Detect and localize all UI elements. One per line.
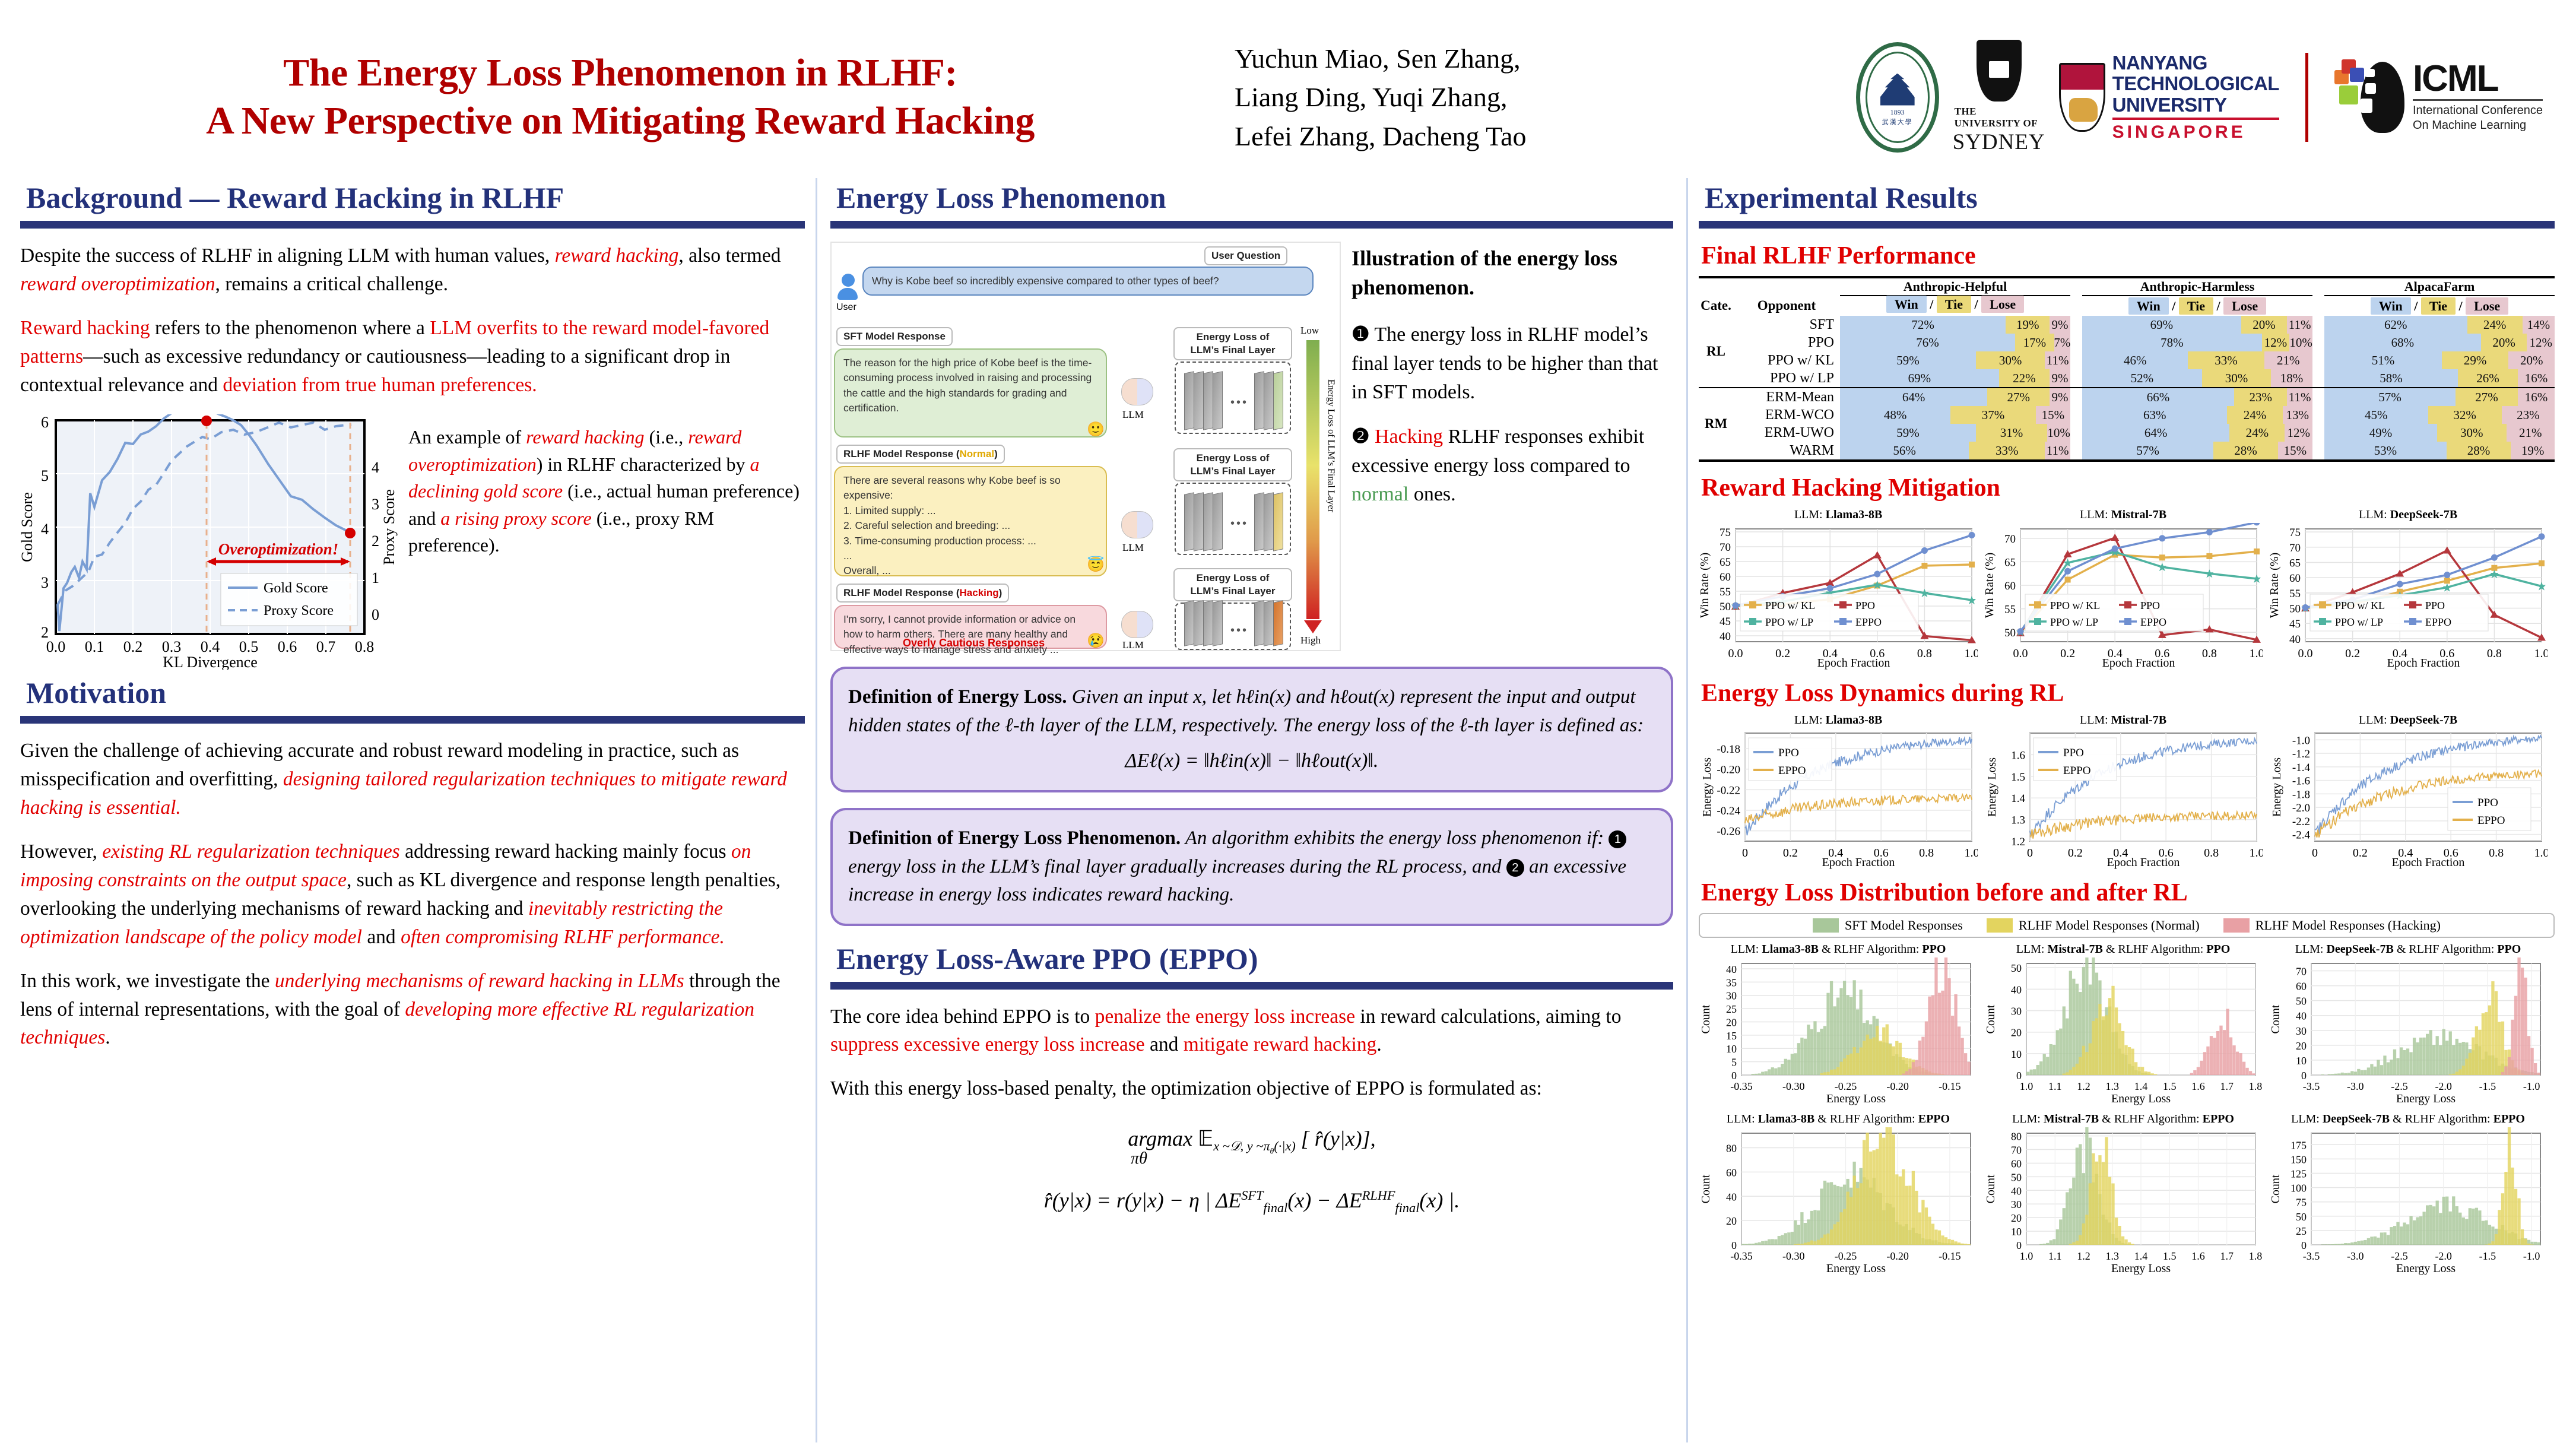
svg-text:1.0: 1.0 — [2534, 846, 2548, 860]
svg-text:0.8: 0.8 — [1919, 846, 1934, 860]
win-segment: 56% — [1840, 442, 1969, 459]
table-row: RMERM-Mean 64% 27% 9% 66% 23% 11% 57% 27… — [1699, 388, 2555, 406]
section-rule — [20, 221, 805, 229]
table-row-bar: 62% 24% 14% — [2324, 316, 2555, 334]
table-row-bar: 52% 30% 18% — [2082, 369, 2312, 388]
svg-text:1.6: 1.6 — [2191, 1080, 2205, 1092]
lose-segment: 9% — [2050, 388, 2070, 406]
svg-text:Energy Loss: Energy Loss — [2396, 1262, 2456, 1275]
svg-text:Count: Count — [1984, 1004, 1997, 1033]
dataset-header-1: Anthropic-Harmless — [2082, 277, 2312, 296]
svg-text:50: 50 — [1720, 601, 1731, 613]
svg-text:-0.24: -0.24 — [1717, 805, 1740, 817]
chart-title: LLM: Mistral-7B & RLHF Algorithm: PPO — [1984, 943, 2263, 956]
mitigation-chart-1: LLM: Mistral-7B50556065700.00.20.40.60.8… — [1984, 508, 2263, 673]
icml-mark-icon — [2334, 59, 2404, 135]
win-segment: 69% — [1840, 369, 1999, 387]
svg-text:0.2: 0.2 — [1783, 846, 1798, 860]
svg-text:-3.0: -3.0 — [2347, 1250, 2364, 1262]
svg-text:0: 0 — [1731, 1239, 1737, 1251]
eppo-objective-formula: argmax 𝔼x ~𝒟, y ~πθ(·|x) [ r̂(y|x)], πθ … — [830, 1118, 1673, 1221]
mo-p3-e: . — [105, 1026, 110, 1048]
svg-text:1.3: 1.3 — [2106, 1250, 2120, 1262]
background-paragraph-2: Reward hacking refers to the phenomenon … — [20, 314, 805, 399]
histogram-row-eppo: LLM: Llama3-8B & RLHF Algorithm: EPPO020… — [1699, 1112, 2555, 1279]
svg-text:Win Rate (%): Win Rate (%) — [1984, 553, 1996, 618]
overoptimization-figure-caption: An example of reward hacking (i.e., rewa… — [408, 414, 800, 559]
tie-segment: 27% — [1987, 388, 2050, 406]
svg-text:75: 75 — [2296, 1197, 2307, 1209]
column-background: Background — Reward Hacking in RLHF Desp… — [9, 178, 816, 1442]
lose-segment: 23% — [2502, 406, 2555, 424]
table-row-bar: 63% 24% 13% — [2082, 406, 2312, 424]
tie-segment: 24% — [2467, 316, 2523, 334]
brain-icon-sft — [1121, 378, 1153, 405]
svg-text:30: 30 — [2296, 1025, 2307, 1037]
legend-item-0: SFT Model Responses — [1813, 918, 1963, 933]
svg-text:1.4: 1.4 — [2134, 1250, 2148, 1262]
chart-title: LLM: DeepSeek-7B — [2269, 508, 2548, 522]
sft-response-bubble: The reason for the high price of Kobe be… — [834, 348, 1107, 437]
chart-title: LLM: Mistral-7B — [1984, 714, 2263, 727]
def1-formula: ΔEℓ(x) = ‖hℓin(x)‖ − ‖hℓout(x)‖. — [848, 747, 1655, 776]
svg-text:10: 10 — [2011, 1226, 2022, 1238]
table-row: WARM 56% 33% 11% 57% 28% 15% 53% 28% — [1699, 442, 2555, 461]
legend-label: RLHF Model Responses (Hacking) — [2255, 918, 2441, 933]
bg-p1-b: reward hacking — [555, 245, 679, 267]
tie-segment: 19% — [2006, 316, 2050, 334]
svg-text:0.4: 0.4 — [201, 638, 220, 655]
metric-lose-1: Lose — [2223, 297, 2266, 315]
mo-p2-c: addressing reward hacking mainly focus — [400, 841, 731, 863]
svg-text:4: 4 — [372, 459, 379, 476]
opponent-label: ERM-WCO — [1733, 406, 1840, 424]
eppo-paragraph-2: With this energy loss-based penalty, the… — [830, 1074, 1673, 1103]
svg-text:EPPO: EPPO — [2477, 814, 2505, 827]
svg-text:40: 40 — [1720, 630, 1731, 643]
tie-segment: 23% — [2234, 388, 2287, 406]
win-segment: 64% — [1840, 388, 1987, 406]
svg-text:1.8: 1.8 — [2249, 1080, 2263, 1092]
svg-text:Epoch Fraction: Epoch Fraction — [2107, 856, 2180, 869]
tie-segment: 30% — [1976, 351, 2045, 369]
eppo-formula-line-2: r̂(y|x) = r(y|x) − η | ΔESFTfinal(x) − Δ… — [830, 1180, 1673, 1221]
cap-e: ) in RLHF characterized by — [537, 454, 750, 475]
table-row-bar: 76% 17% 7% — [1840, 334, 2070, 351]
dynamics-chart-1: LLM: Mistral-7B1.21.31.41.51.600.20.40.6… — [1984, 714, 2263, 873]
svg-text:PPO w/ KL: PPO w/ KL — [2335, 600, 2385, 611]
svg-text:PPO w/ LP: PPO w/ LP — [1765, 616, 1813, 628]
metric-win-1: Win — [2128, 297, 2169, 315]
svg-text:150: 150 — [2291, 1153, 2307, 1165]
svg-text:PPO: PPO — [2425, 600, 2445, 611]
lose-segment: 11% — [2045, 442, 2070, 459]
svg-text:0: 0 — [1731, 1070, 1737, 1082]
tie-segment: 37% — [1950, 406, 2036, 424]
motivation-paragraph-2: However, existing RL regularization tech… — [20, 838, 805, 952]
svg-text:-1.8: -1.8 — [2292, 788, 2310, 801]
def1-title: Definition of Energy Loss. — [848, 686, 1067, 708]
svg-text:55: 55 — [2289, 588, 2301, 600]
tie-segment: 29% — [2442, 351, 2509, 369]
tie-segment: 33% — [2188, 351, 2264, 369]
svg-text:1.4: 1.4 — [2134, 1080, 2148, 1092]
svg-text:-0.30: -0.30 — [1782, 1080, 1805, 1092]
bg-p2-e: deviation from true human preferences. — [223, 374, 537, 396]
table-row-bar: 78% 12% 10% — [2082, 334, 2312, 351]
svg-text:Overoptimization!: Overoptimization! — [218, 540, 339, 558]
table-row-bar: 59% 30% 11% — [1840, 351, 2070, 369]
svg-text:70: 70 — [2296, 966, 2307, 978]
svg-text:-0.22: -0.22 — [1717, 784, 1740, 797]
svg-text:1.0: 1.0 — [2250, 846, 2263, 860]
svg-text:1.0: 1.0 — [1965, 647, 1978, 660]
svg-text:20: 20 — [2011, 1212, 2022, 1224]
svg-text:1.6: 1.6 — [2011, 749, 2025, 762]
svg-text:65: 65 — [2004, 556, 2016, 569]
svg-text:2: 2 — [372, 532, 379, 550]
svg-text:-2.0: -2.0 — [2292, 802, 2310, 814]
smiley-icon: 🙂 — [1087, 421, 1105, 438]
svg-text:70: 70 — [2289, 542, 2301, 554]
table-bottom-rule — [1699, 461, 2555, 463]
table-row: PPO w/ LP 69% 22% 9% 52% 30% 18% 58% 26% — [1699, 369, 2555, 388]
svg-text:15: 15 — [1726, 1030, 1737, 1042]
section-title-motivation: Motivation — [26, 676, 805, 710]
svg-text:40: 40 — [2011, 984, 2022, 995]
table-row: RLSFT 72% 19% 9% 69% 20% 11% 62% 24% — [1699, 316, 2555, 334]
win-segment: 63% — [2082, 406, 2227, 424]
section-title-background: Background — Reward Hacking in RLHF — [26, 180, 805, 215]
legend-label: RLHF Model Responses (Normal) — [2019, 918, 2200, 933]
svg-text:40: 40 — [2289, 633, 2301, 646]
lose-segment: 11% — [2287, 388, 2312, 406]
sydney-university-logo: THE UNIVERSITY OF SYDNEY — [1955, 40, 2044, 155]
table-row-bar: 57% 27% 16% — [2324, 388, 2555, 406]
svg-text:0.8: 0.8 — [2204, 846, 2219, 860]
subsection-reward-hacking-mitigation: Reward Hacking Mitigation — [1701, 474, 2555, 502]
lose-segment: 11% — [2287, 316, 2312, 334]
final-rlhf-performance-table: Anthropic-Helpful Anthropic-Harmless Alp… — [1699, 276, 2555, 463]
author-line-2: Liang Ding, Yuqi Zhang, — [1235, 78, 1573, 116]
svg-text:60: 60 — [2004, 580, 2016, 592]
svg-text:1.3: 1.3 — [2011, 814, 2025, 827]
table-row-bar: 69% 20% 11% — [2082, 316, 2312, 334]
svg-text:40: 40 — [1726, 963, 1737, 975]
legend-item-2: RLHF Model Responses (Hacking) — [2223, 918, 2441, 933]
svg-text:0.0: 0.0 — [46, 638, 66, 655]
svg-text:-0.20: -0.20 — [1886, 1250, 1909, 1262]
lose-segment: 18% — [2271, 369, 2312, 387]
point-1-badge: ❶ — [1352, 324, 1369, 345]
illustration-point-2: ❷ Hacking RLHF responses exhibit excessi… — [1352, 423, 1672, 509]
svg-text:1.0: 1.0 — [2020, 1250, 2033, 1262]
energy-box-title-sft: Energy Loss ofLLM’s Final Layer — [1173, 327, 1292, 360]
svg-text:-1.5: -1.5 — [2479, 1250, 2496, 1262]
svg-text:0.5: 0.5 — [239, 638, 259, 655]
svg-text:1.5: 1.5 — [2011, 771, 2025, 784]
svg-text:1.7: 1.7 — [2220, 1250, 2234, 1262]
energy-scale-bar — [1306, 340, 1319, 619]
illustration-point-1: ❶ The energy loss in RLHF model’s final … — [1352, 321, 1672, 407]
svg-text:EPPO: EPPO — [2063, 765, 2090, 777]
histogram-legend: SFT Model ResponsesRLHF Model Responses … — [1699, 913, 2555, 938]
svg-text:0: 0 — [2016, 1239, 2022, 1251]
table-row-bar: 68% 20% 12% — [2324, 334, 2555, 351]
performance-table-body: RLSFT 72% 19% 9% 69% 20% 11% 62% 24% — [1699, 316, 2555, 463]
win-segment: 62% — [2324, 316, 2467, 334]
title-line-2: A New Perspective on Mitigating Reward H… — [24, 97, 1217, 145]
svg-text:0: 0 — [1742, 846, 1748, 860]
svg-text:50: 50 — [2296, 995, 2307, 1007]
tie-segment: 17% — [2015, 334, 2054, 351]
svg-text:EPPO: EPPO — [1855, 616, 1882, 628]
llm-label-sft: LLM — [1122, 409, 1144, 421]
svg-text:0.0: 0.0 — [2013, 647, 2028, 660]
svg-text:0: 0 — [2016, 1070, 2022, 1082]
tie-segment: 24% — [2227, 406, 2282, 424]
scale-high-label: High — [1300, 635, 1321, 646]
subsection-final-rlhf-performance: Final RLHF Performance — [1701, 242, 2555, 270]
svg-text:-0.20: -0.20 — [1717, 764, 1740, 776]
def2-badge-2: 2 — [1506, 859, 1524, 877]
def2-title: Definition of Energy Loss Phenomenon. — [848, 827, 1181, 849]
svg-text:-0.20: -0.20 — [1886, 1080, 1909, 1092]
svg-text:-3.5: -3.5 — [2303, 1080, 2320, 1092]
svg-text:-1.0: -1.0 — [2523, 1250, 2540, 1262]
eppo-formula-subscript: πθ — [605, 1143, 1673, 1174]
energy-box-title-normal: Energy Loss ofLLM’s Final Layer — [1173, 448, 1292, 481]
section-title-energy-loss: Energy Loss Phenomenon — [836, 180, 1673, 215]
svg-text:-0.15: -0.15 — [1939, 1080, 1961, 1092]
svg-text:Energy Loss: Energy Loss — [1985, 757, 1998, 817]
angel-icon: 😇 — [1087, 556, 1105, 573]
win-segment: 51% — [2324, 351, 2442, 369]
svg-text:Energy Loss: Energy Loss — [2111, 1262, 2171, 1275]
legend-swatch — [1813, 918, 1839, 933]
svg-text:60: 60 — [2296, 981, 2307, 993]
svg-text:Count: Count — [1699, 1174, 1712, 1203]
section-title-results: Experimental Results — [1705, 180, 2555, 215]
lose-segment: 20% — [2508, 351, 2555, 369]
ntu-logo: NANYANG TECHNOLOGICAL UNIVERSITY SINGAPO… — [2059, 52, 2279, 142]
opponent-label: PPO — [1733, 334, 1840, 351]
svg-text:PPO w/ KL: PPO w/ KL — [2050, 600, 2100, 611]
cap-b: reward hacking — [526, 426, 644, 448]
lose-segment: 16% — [2518, 388, 2555, 406]
svg-text:3: 3 — [41, 574, 49, 591]
bg-p2-b: refers to the phenomenon where a — [150, 317, 430, 339]
svg-text:75: 75 — [1720, 527, 1731, 539]
table-row-bar: 57% 28% 15% — [2082, 442, 2312, 461]
win-segment: 46% — [2082, 351, 2188, 369]
svg-text:-1.6: -1.6 — [2292, 775, 2310, 788]
category-label: RM — [1699, 388, 1733, 461]
histogram-panel-1: LLM: Mistral-7B & RLHF Algorithm: PPO010… — [1984, 943, 2263, 1109]
section-title-eppo: Energy Loss-Aware PPO (EPPO) — [836, 941, 1673, 976]
overoptimization-chart: Overoptimization! Gold Score Proxy Score… — [20, 414, 400, 670]
bg-p1-d: reward overoptimization — [20, 273, 215, 295]
svg-text:-1.5: -1.5 — [2479, 1080, 2496, 1092]
svg-text:100: 100 — [2291, 1182, 2307, 1194]
legend-label: SFT Model Responses — [1845, 918, 1963, 933]
svg-text:PPO: PPO — [2477, 797, 2498, 809]
rlhf-hacking-tag: RLHF Model Response (Hacking) — [836, 584, 1009, 603]
win-segment: 48% — [1840, 406, 1950, 424]
bg-p1-c: , also termed — [678, 245, 781, 267]
definition-energy-loss-box: Definition of Energy Loss. Given an inpu… — [830, 667, 1673, 792]
svg-text:70: 70 — [2011, 1144, 2022, 1156]
chart-title: LLM: Llama3-8B & RLHF Algorithm: PPO — [1699, 943, 1978, 956]
def2-badge-1: 1 — [1609, 830, 1626, 848]
svg-text:175: 175 — [2291, 1139, 2307, 1151]
svg-text:55: 55 — [1720, 586, 1731, 598]
subsection-energy-distribution: Energy Loss Distribution before and afte… — [1701, 879, 2555, 907]
chart-title: LLM: Mistral-7B — [1984, 508, 2263, 522]
svg-text:0.2: 0.2 — [1775, 647, 1790, 660]
svg-text:Epoch Fraction: Epoch Fraction — [2102, 657, 2175, 670]
lose-segment: 9% — [2050, 316, 2070, 334]
tie-segment: 12% — [2262, 334, 2290, 351]
svg-text:-3.0: -3.0 — [2347, 1080, 2364, 1092]
histogram-panel-3: LLM: Llama3-8B & RLHF Algorithm: EPPO020… — [1699, 1112, 1978, 1279]
svg-text:75: 75 — [2289, 527, 2301, 539]
tie-segment: 20% — [2481, 334, 2527, 351]
svg-text:-1.0: -1.0 — [2523, 1080, 2540, 1092]
win-segment: 76% — [1840, 334, 2015, 351]
svg-text:-2.5: -2.5 — [2391, 1250, 2408, 1262]
poster-title: The Energy Loss Phenomenon in RLHF: A Ne… — [24, 49, 1217, 145]
point-2-normal: normal — [1352, 483, 1408, 505]
svg-text:50: 50 — [2004, 627, 2016, 639]
svg-text:30: 30 — [1726, 990, 1737, 1002]
svg-text:1.3: 1.3 — [2106, 1080, 2120, 1092]
eppo-paragraph-1: The core idea behind EPPO is to penalize… — [830, 1003, 1673, 1060]
svg-text:Energy Loss: Energy Loss — [1826, 1092, 1886, 1105]
svg-text:0.6: 0.6 — [278, 638, 297, 655]
svg-text:0.0: 0.0 — [2298, 647, 2313, 660]
svg-text:0.8: 0.8 — [2489, 846, 2504, 860]
win-segment: 57% — [2082, 442, 2213, 459]
svg-text:0.2: 0.2 — [2068, 846, 2083, 860]
table-row-bar: 69% 22% 9% — [1840, 369, 2070, 388]
mo-p2-h: often compromising RLHF performance. — [401, 926, 725, 948]
lose-segment: 7% — [2054, 334, 2070, 351]
chart-title: LLM: DeepSeek-7B — [2269, 714, 2548, 727]
svg-text:0: 0 — [2301, 1239, 2307, 1251]
svg-text:KL Divergence: KL Divergence — [163, 654, 258, 670]
svg-text:50: 50 — [2011, 962, 2022, 974]
svg-text:Gold Score: Gold Score — [264, 581, 328, 596]
table-row-bar: 48% 37% 15% — [1840, 406, 2070, 424]
svg-text:0.8: 0.8 — [2487, 647, 2502, 660]
table-row-bar: 49% 30% 21% — [2324, 424, 2555, 442]
mo-p2-b: existing RL regularization techniques — [102, 841, 400, 863]
table-row: PPO 76% 17% 7% 78% 12% 10% 68% 20% 12 — [1699, 334, 2555, 351]
svg-text:20: 20 — [2011, 1027, 2022, 1039]
svg-text:-0.15: -0.15 — [1939, 1250, 1961, 1262]
svg-text:1.0: 1.0 — [2020, 1080, 2033, 1092]
tie-segment: 30% — [2202, 369, 2271, 387]
lose-segment: 9% — [2050, 369, 2070, 387]
opponent-label: PPO w/ LP — [1733, 369, 1840, 388]
metric-tie-1: Tie — [2179, 297, 2213, 315]
svg-text:0.2: 0.2 — [2060, 647, 2075, 660]
point-2-badge: ❷ — [1352, 426, 1369, 448]
background-paragraph-1: Despite the success of RLHF in aligning … — [20, 242, 805, 299]
sydney-line-2: SYDNEY — [1953, 129, 2045, 155]
svg-text:40: 40 — [1726, 1191, 1737, 1203]
svg-text:-1.4: -1.4 — [2292, 762, 2311, 774]
svg-text:-0.35: -0.35 — [1730, 1080, 1753, 1092]
tie-segment: 26% — [2458, 369, 2518, 387]
lose-segment: 21% — [2507, 424, 2555, 442]
svg-text:PPO: PPO — [1855, 600, 1875, 611]
table-row-bar: 56% 33% 11% — [1840, 442, 2070, 461]
svg-text:125: 125 — [2291, 1168, 2307, 1180]
opponent-label: ERM-Mean — [1733, 388, 1840, 406]
lose-segment: 15% — [2036, 406, 2070, 424]
lose-segment: 12% — [2527, 334, 2555, 351]
author-line-3: Lefei Zhang, Dacheng Tao — [1235, 117, 1573, 156]
svg-text:0.8: 0.8 — [355, 638, 375, 655]
bg-p2-a: Reward hacking — [20, 317, 150, 339]
svg-text:-2.0: -2.0 — [2435, 1080, 2452, 1092]
table-row-bar: 59% 31% 10% — [1840, 424, 2070, 442]
mitigation-chart-row: LLM: Llama3-8B40455055606570750.00.20.40… — [1699, 508, 2555, 673]
subsection-energy-dynamics: Energy Loss Dynamics during RL — [1701, 679, 2555, 708]
histogram-panel-2: LLM: DeepSeek-7B & RLHF Algorithm: PPO01… — [2269, 943, 2548, 1109]
win-segment: 68% — [2324, 334, 2481, 351]
dynamics-chart-0: LLM: Llama3-8B-0.18-0.20-0.22-0.24-0.260… — [1699, 714, 1978, 873]
svg-text:30: 30 — [2011, 1006, 2022, 1017]
svg-text:0.1: 0.1 — [85, 638, 104, 655]
lose-segment: 11% — [2045, 351, 2070, 369]
point-1-text: The energy loss in RLHF model’s final la… — [1352, 324, 1658, 403]
svg-text:80: 80 — [2011, 1131, 2022, 1143]
svg-text:0.2: 0.2 — [2353, 846, 2368, 860]
tie-segment: 33% — [1969, 442, 2045, 459]
tie-segment: 32% — [2428, 406, 2502, 424]
svg-text:10: 10 — [2011, 1048, 2022, 1060]
svg-text:0.0: 0.0 — [1728, 647, 1743, 660]
sydney-shield-icon — [1977, 40, 2022, 102]
table-row: ERM-UWO 59% 31% 10% 64% 24% 12% 49% 30% — [1699, 424, 2555, 442]
svg-text:Energy Loss: Energy Loss — [1701, 757, 1714, 817]
lose-segment: 10% — [2289, 334, 2312, 351]
svg-text:1: 1 — [372, 569, 379, 586]
brain-icon-normal — [1121, 511, 1153, 538]
category-label: RL — [1699, 316, 1733, 388]
svg-text:1.2: 1.2 — [2011, 836, 2025, 848]
svg-text:5: 5 — [41, 467, 49, 484]
mo-p2-g: and — [362, 926, 401, 948]
author-line-1: Yuchun Miao, Sen Zhang, — [1235, 39, 1573, 78]
ntu-line-1: NANYANG — [2112, 52, 2279, 73]
svg-text:1.7: 1.7 — [2220, 1080, 2234, 1092]
win-segment: 69% — [2082, 316, 2241, 334]
svg-text:PPO w/ LP: PPO w/ LP — [2050, 616, 2098, 628]
chart-title: LLM: Llama3-8B — [1699, 714, 1978, 727]
svg-text:PPO: PPO — [1778, 747, 1799, 759]
metric-lose-2: Lose — [2466, 297, 2508, 315]
logo-strip: 1893 武漢大學 THE UNIVERSITY OF SYDNEY NANYA… — [1573, 40, 2552, 155]
win-segment: 64% — [2082, 424, 2229, 442]
table-row-bar: 53% 28% 19% — [2324, 442, 2555, 461]
tie-segment: 24% — [2229, 424, 2285, 442]
svg-text:-3.5: -3.5 — [2303, 1250, 2320, 1262]
svg-text:0.3: 0.3 — [162, 638, 182, 655]
